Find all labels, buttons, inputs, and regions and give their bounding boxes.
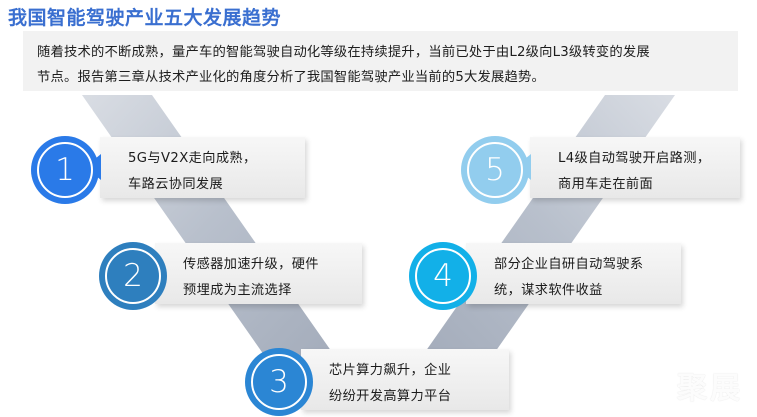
trend-callout-4: 部分企业自研自动驾驶系 统，谋求软件收益	[466, 243, 681, 304]
trend-callout-3: 芯片算力飙升，企业 纷纷开发高算力平台	[301, 349, 509, 410]
trend-number-1: 1	[55, 155, 75, 186]
trend-callout-1: 5G与V2X走向成熟， 车路云协同发展	[100, 137, 305, 198]
watermark: 聚展	[677, 363, 743, 407]
trend-text-2-line-2: 预埋成为主流选择	[183, 278, 362, 304]
trend-callout-5: L4级自动驾驶开启路测， 商用车走在前面	[530, 137, 740, 198]
trend-text-3-line-1: 芯片算力飙升，企业	[329, 358, 509, 384]
description-line-1: 随着技术的不断成熟，量产车的智能驾驶自动化等级在持续提升，当前已处于由L2级向L…	[37, 40, 724, 65]
trend-badge-1[interactable]: 1	[31, 136, 99, 204]
trend-text-1-line-2: 车路云协同发展	[128, 172, 305, 198]
trend-text-4-line-1: 部分企业自研自动驾驶系	[494, 252, 681, 278]
page-title: 我国智能驾驶产业五大发展趋势	[8, 6, 281, 30]
trend-number-2: 2	[123, 261, 143, 292]
trend-number-3: 3	[269, 367, 289, 398]
trend-number-5: 5	[485, 155, 505, 186]
trend-number-4: 4	[433, 261, 453, 292]
trend-badge-3[interactable]: 3	[245, 348, 313, 416]
trend-text-3-line-2: 纷纷开发高算力平台	[329, 384, 509, 410]
description-panel: 随着技术的不断成熟，量产车的智能驾驶自动化等级在持续提升，当前已处于由L2级向L…	[23, 31, 738, 91]
infographic-page: 我国智能驾驶产业五大发展趋势 随着技术的不断成熟，量产车的智能驾驶自动化等级在持…	[0, 0, 757, 417]
trend-text-2-line-1: 传感器加速升级，硬件	[183, 252, 362, 278]
trend-callout-2: 传感器加速升级，硬件 预埋成为主流选择	[155, 243, 362, 304]
trend-badge-2[interactable]: 2	[99, 242, 167, 310]
trend-text-1-line-1: 5G与V2X走向成熟，	[128, 146, 305, 172]
trend-badge-5[interactable]: 5	[461, 136, 529, 204]
trend-badge-4[interactable]: 4	[409, 242, 477, 310]
trend-text-4-line-2: 统，谋求软件收益	[494, 278, 681, 304]
trend-text-5-line-2: 商用车走在前面	[558, 172, 740, 198]
trend-text-5-line-1: L4级自动驾驶开启路测，	[558, 146, 740, 172]
description-line-2: 节点。报告第三章从技术产业化的角度分析了我国智能驾驶产业当前的5大发展趋势。	[37, 65, 724, 90]
